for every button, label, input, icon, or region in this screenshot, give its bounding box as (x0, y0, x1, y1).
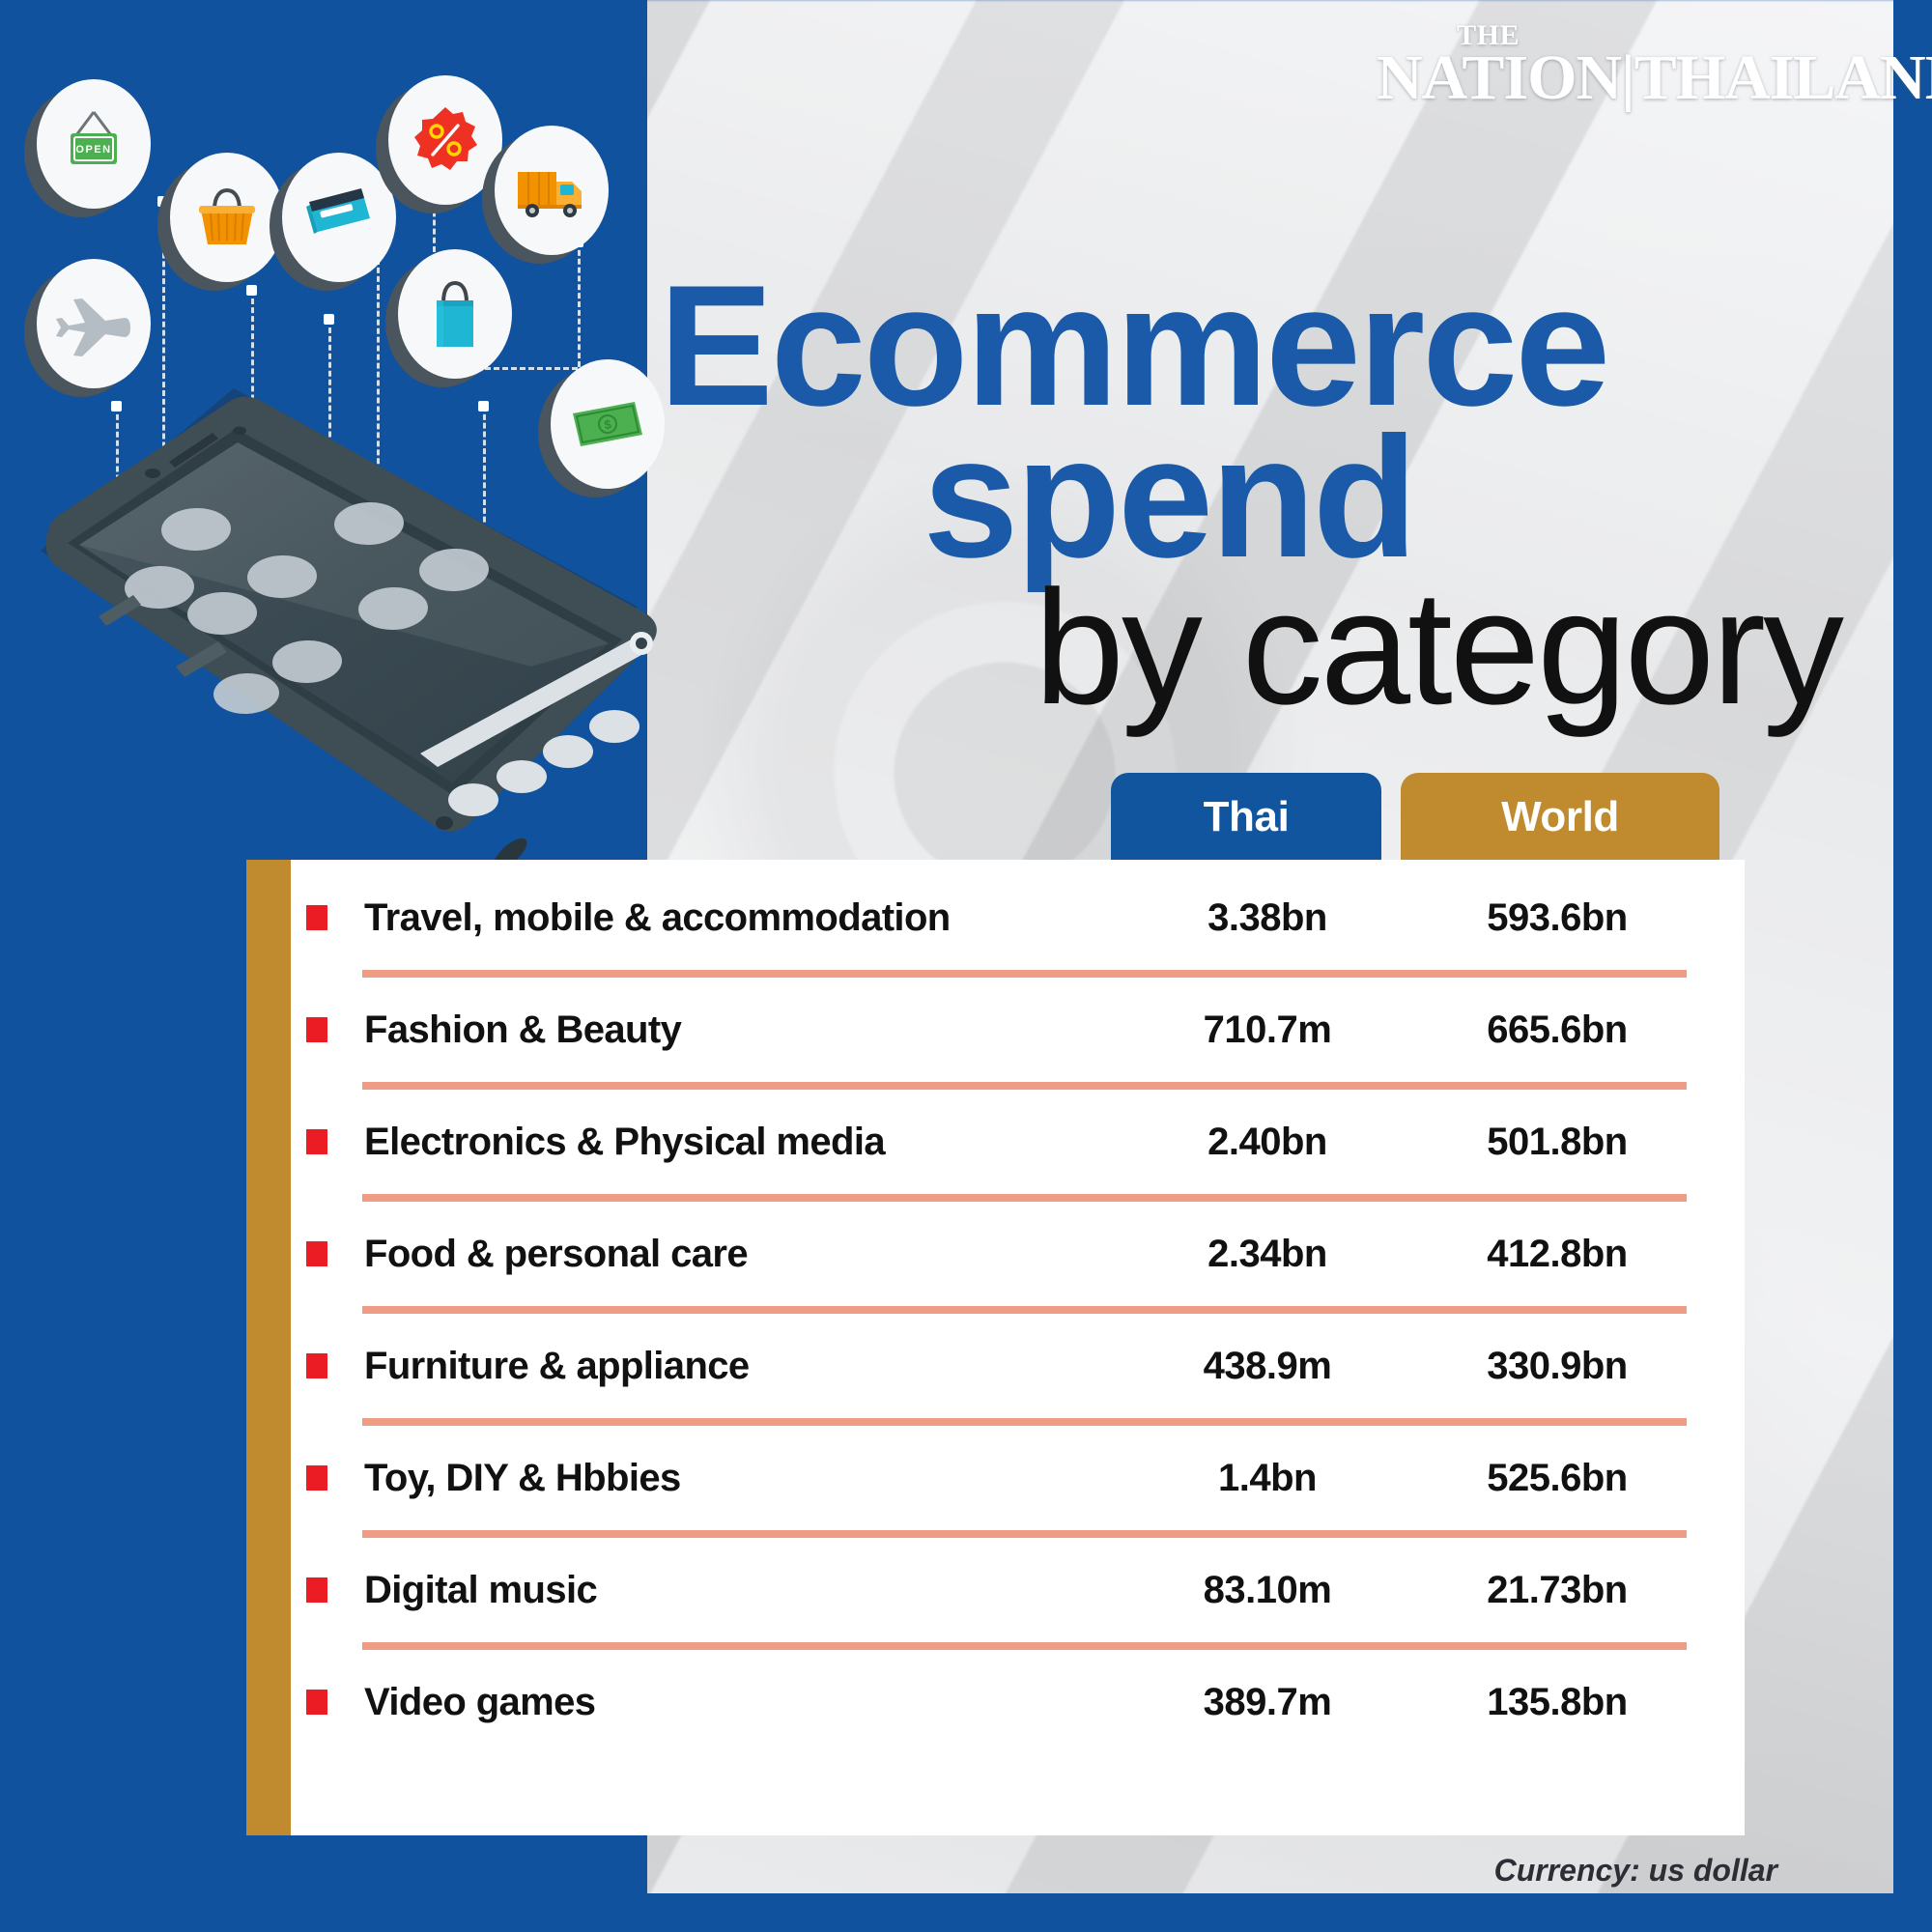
connector-line-9 (578, 241, 581, 367)
row-bullet-icon (306, 1353, 327, 1378)
row-world-value: 593.6bn (1412, 896, 1702, 940)
row-divider (362, 1194, 1687, 1202)
row-bullet-icon (306, 1129, 327, 1154)
right-edge-strip (1893, 0, 1932, 1932)
row-world-value: 135.8bn (1412, 1681, 1702, 1724)
table-rows: Travel, mobile & accommodation 3.38bn 59… (291, 860, 1745, 1835)
connector-dot-3 (324, 314, 334, 325)
table-row: Electronics & Physical media 2.40bn 501.… (291, 1097, 1745, 1186)
svg-text:OPEN: OPEN (75, 144, 111, 156)
row-category-label: Electronics & Physical media (364, 1121, 1122, 1164)
discount-badge-icon (410, 104, 481, 176)
table-row: Digital music 83.10m 21.73bn (291, 1546, 1745, 1634)
row-bullet-icon (306, 1241, 327, 1266)
airplane-bubble (37, 259, 151, 388)
row-divider (362, 1306, 1687, 1314)
currency-footnote: Currency: us dollar (1159, 1853, 1777, 1889)
row-bullet-icon (306, 1017, 327, 1042)
row-world-value: 412.8bn (1412, 1233, 1702, 1276)
airplane-icon (55, 289, 132, 358)
table-row: Toy, DIY & Hbbies 1.4bn 525.6bn (291, 1434, 1745, 1522)
bottom-edge-strip (0, 1893, 1932, 1932)
row-category-label: Travel, mobile & accommodation (364, 896, 1122, 940)
row-divider (362, 970, 1687, 978)
row-divider (362, 1530, 1687, 1538)
row-thai-value: 2.40bn (1122, 1121, 1412, 1164)
table-row: Travel, mobile & accommodation 3.38bn 59… (291, 873, 1745, 962)
nation-thailand-logo: THE NATION|THAILAND (1377, 21, 1860, 110)
table-gold-accent-bar (246, 860, 291, 1835)
column-header-thai: Thai (1111, 773, 1381, 862)
table-row: Furniture & appliance 438.9m 330.9bn (291, 1321, 1745, 1410)
row-world-value: 665.6bn (1412, 1009, 1702, 1052)
row-bullet-icon (306, 1465, 327, 1491)
row-thai-value: 710.7m (1122, 1009, 1412, 1052)
open-sign-bubble: OPEN (37, 79, 151, 209)
row-bullet-icon (306, 1577, 327, 1603)
shopping-basket-bubble (170, 153, 284, 282)
shopping-bag-bubble (398, 249, 512, 379)
column-header-world: World (1401, 773, 1719, 862)
shopping-bag-icon (423, 275, 487, 353)
delivery-truck-bubble (495, 126, 609, 255)
table-row: Food & personal care 2.34bn 412.8bn (291, 1209, 1745, 1298)
row-category-label: Video games (364, 1681, 1122, 1724)
credit-card-icon (300, 185, 378, 249)
row-thai-value: 83.10m (1122, 1569, 1412, 1612)
infographic-canvas: THE NATION|THAILAND OPEN (0, 0, 1932, 1932)
row-thai-value: 438.9m (1122, 1345, 1412, 1388)
column-header-thai-label: Thai (1204, 793, 1290, 841)
connector-dot-2 (246, 285, 257, 296)
row-thai-value: 389.7m (1122, 1681, 1412, 1724)
row-divider (362, 1082, 1687, 1090)
row-category-label: Furniture & appliance (364, 1345, 1122, 1388)
row-category-label: Fashion & Beauty (364, 1009, 1122, 1052)
page-title: Ecommerce spend by category (638, 270, 1855, 720)
connector-dot-1 (157, 196, 168, 207)
table-row: Fashion & Beauty 710.7m 665.6bn (291, 985, 1745, 1074)
smartphone-illustration (29, 386, 686, 908)
row-world-value: 525.6bn (1412, 1457, 1702, 1500)
open-sign-icon: OPEN (55, 106, 132, 182)
title-line-ecommerce: Ecommerce (638, 270, 1855, 422)
title-line-spend: spend (638, 422, 1855, 574)
row-world-value: 330.9bn (1412, 1345, 1702, 1388)
row-thai-value: 3.38bn (1122, 896, 1412, 940)
row-category-label: Food & personal care (364, 1233, 1122, 1276)
row-category-label: Digital music (364, 1569, 1122, 1612)
title-line-by-category: by category (638, 577, 1855, 720)
row-bullet-icon (306, 1690, 327, 1715)
row-category-label: Toy, DIY & Hbbies (364, 1457, 1122, 1500)
delivery-truck-icon (512, 160, 591, 220)
logo-name-text: NATION|THAILAND (1377, 46, 1860, 110)
credit-card-bubble (282, 153, 396, 282)
data-table-panel: Travel, mobile & accommodation 3.38bn 59… (246, 860, 1745, 1835)
left-edge-strip (0, 0, 29, 1932)
column-header-world-label: World (1501, 793, 1619, 841)
row-world-value: 21.73bn (1412, 1569, 1702, 1612)
row-thai-value: 2.34bn (1122, 1233, 1412, 1276)
row-divider (362, 1642, 1687, 1650)
table-row: Video games 389.7m 135.8bn (291, 1658, 1745, 1747)
row-divider (362, 1418, 1687, 1426)
row-bullet-icon (306, 905, 327, 930)
row-thai-value: 1.4bn (1122, 1457, 1412, 1500)
shopping-basket-icon (189, 181, 265, 254)
discount-badge-bubble (388, 75, 502, 205)
row-world-value: 501.8bn (1412, 1121, 1702, 1164)
